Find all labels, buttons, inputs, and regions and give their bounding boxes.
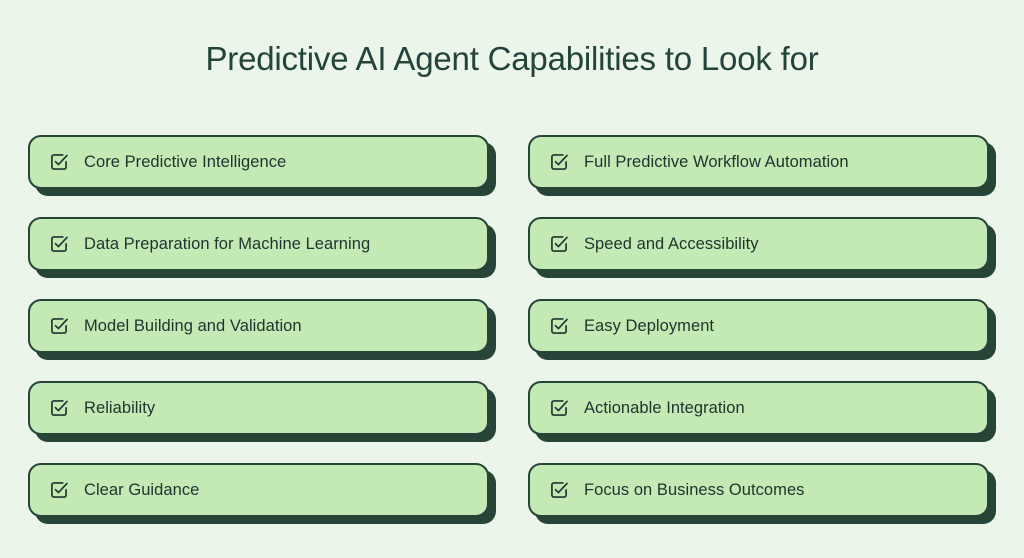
capability-card-wrapper: Data Preparation for Machine Learning: [28, 217, 496, 278]
capability-label: Full Predictive Workflow Automation: [584, 152, 849, 172]
checkbox-checked-icon: [49, 234, 69, 254]
capability-card-clear-guidance[interactable]: Clear Guidance: [28, 463, 489, 517]
checkbox-checked-icon: [549, 480, 569, 500]
capability-label: Reliability: [84, 398, 155, 418]
checkbox-checked-icon: [49, 480, 69, 500]
capability-card-core-predictive-intelligence[interactable]: Core Predictive Intelligence: [28, 135, 489, 189]
capability-card-model-building-and-validation[interactable]: Model Building and Validation: [28, 299, 489, 353]
capability-card-focus-on-business-outcomes[interactable]: Focus on Business Outcomes: [528, 463, 989, 517]
capability-card-reliability[interactable]: Reliability: [28, 381, 489, 435]
capability-label: Easy Deployment: [584, 316, 714, 336]
capability-card-actionable-integration[interactable]: Actionable Integration: [528, 381, 989, 435]
page-title: Predictive AI Agent Capabilities to Look…: [0, 36, 1024, 82]
checkbox-checked-icon: [49, 152, 69, 172]
capability-label: Focus on Business Outcomes: [584, 480, 804, 500]
capabilities-grid: Core Predictive Intelligence Full Predic…: [28, 135, 996, 524]
capability-card-easy-deployment[interactable]: Easy Deployment: [528, 299, 989, 353]
capability-label: Data Preparation for Machine Learning: [84, 234, 370, 254]
capability-card-wrapper: Speed and Accessibility: [528, 217, 996, 278]
capability-card-wrapper: Model Building and Validation: [28, 299, 496, 360]
capability-card-speed-and-accessibility[interactable]: Speed and Accessibility: [528, 217, 989, 271]
slide-canvas: Predictive AI Agent Capabilities to Look…: [0, 0, 1024, 558]
capability-label: Speed and Accessibility: [584, 234, 759, 254]
capability-label: Actionable Integration: [584, 398, 745, 418]
checkbox-checked-icon: [49, 316, 69, 336]
checkbox-checked-icon: [549, 316, 569, 336]
capability-label: Model Building and Validation: [84, 316, 302, 336]
capability-card-full-predictive-workflow-automation[interactable]: Full Predictive Workflow Automation: [528, 135, 989, 189]
capability-label: Clear Guidance: [84, 480, 199, 500]
capability-card-wrapper: Actionable Integration: [528, 381, 996, 442]
capability-card-data-preparation-for-machine-learning[interactable]: Data Preparation for Machine Learning: [28, 217, 489, 271]
capability-card-wrapper: Core Predictive Intelligence: [28, 135, 496, 196]
checkbox-checked-icon: [49, 398, 69, 418]
capability-label: Core Predictive Intelligence: [84, 152, 286, 172]
capability-card-wrapper: Easy Deployment: [528, 299, 996, 360]
capability-card-wrapper: Full Predictive Workflow Automation: [528, 135, 996, 196]
checkbox-checked-icon: [549, 152, 569, 172]
checkbox-checked-icon: [549, 234, 569, 254]
capability-card-wrapper: Focus on Business Outcomes: [528, 463, 996, 524]
capability-card-wrapper: Clear Guidance: [28, 463, 496, 524]
checkbox-checked-icon: [549, 398, 569, 418]
capability-card-wrapper: Reliability: [28, 381, 496, 442]
